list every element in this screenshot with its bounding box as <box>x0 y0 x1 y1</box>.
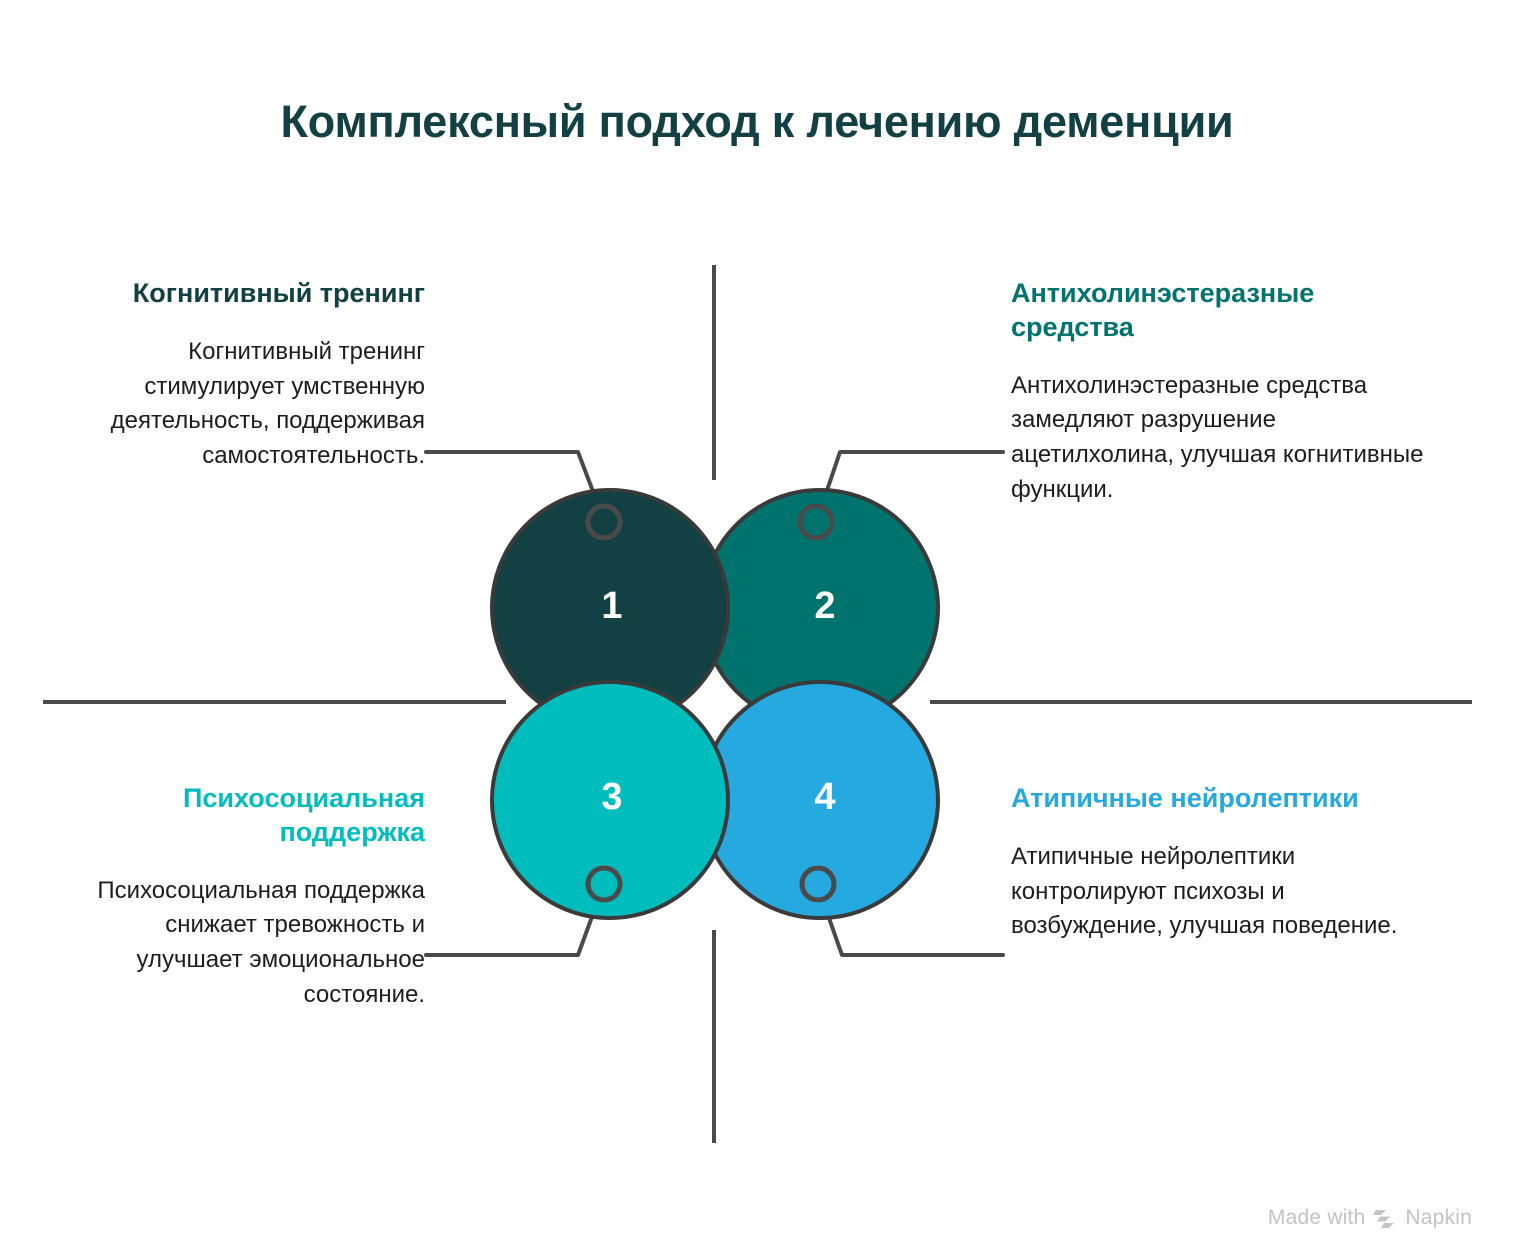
infographic-canvas: Комплексный подход к лечению деменции <box>0 0 1514 1256</box>
quadrant-bottom-right: Атипичные нейролептики Атипичные нейроле… <box>1011 782 1441 944</box>
quadrant-top-right: Антихолинэстеразные средства Антихолинэс… <box>1011 277 1441 508</box>
quadrant-body-4: Атипичные нейролептики контролируют псих… <box>1011 840 1441 944</box>
quadrant-heading-3: Психосоциальная поддержка <box>85 782 425 850</box>
quadrant-body-2: Антихолинэстеразные средства замедляют р… <box>1011 369 1441 508</box>
quadrant-heading-1: Когнитивный тренинг <box>85 277 425 311</box>
quadrant-top-left: Когнитивный тренинг Когнитивный тренинг … <box>85 277 425 474</box>
circle-number-4: 4 <box>795 778 855 816</box>
napkin-logo-icon <box>1373 1208 1397 1228</box>
quadrant-body-1: Когнитивный тренинг стимулирует умственн… <box>85 335 425 474</box>
watermark-brand: Napkin <box>1405 1206 1472 1230</box>
quadrant-heading-4: Атипичные нейролептики <box>1011 782 1441 816</box>
circle-number-3: 3 <box>582 778 642 816</box>
watermark: Made with Napkin <box>1268 1206 1472 1230</box>
circle-number-1: 1 <box>582 587 642 625</box>
quadrant-body-3: Психосоциальная поддержка снижает тревож… <box>85 874 425 1013</box>
connector-group <box>426 452 1003 955</box>
quadrant-heading-2: Антихолинэстеразные средства <box>1011 277 1441 345</box>
circle-number-2: 2 <box>795 587 855 625</box>
quadrant-bottom-left: Психосоциальная поддержка Психосоциальна… <box>85 782 425 1013</box>
watermark-prefix: Made with <box>1268 1206 1366 1230</box>
venn-diagram <box>0 0 1514 1256</box>
